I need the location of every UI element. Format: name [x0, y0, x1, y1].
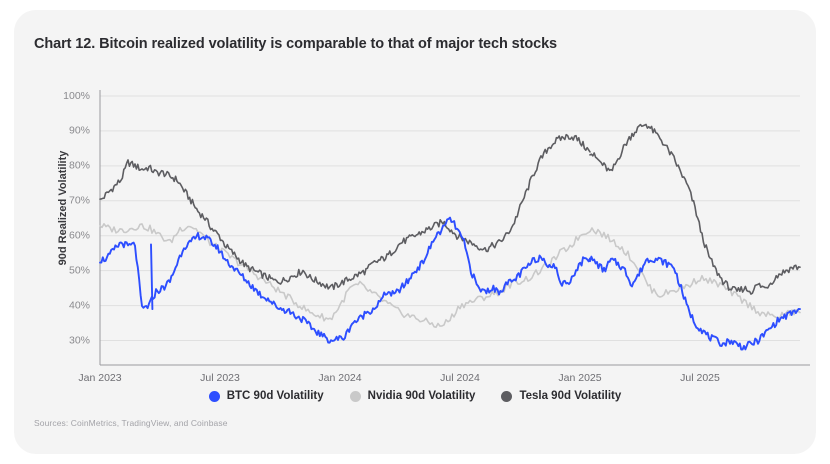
svg-text:Jul 2023: Jul 2023 [200, 372, 240, 384]
y-axis-tick-labels: 30%40%50%60%70%80%90%100% [63, 90, 90, 347]
svg-text:30%: 30% [69, 334, 90, 346]
legend-item-btc[interactable]: BTC 90d Volatility [209, 390, 324, 402]
chart-card: Chart 12. Bitcoin realized volatility is… [14, 10, 816, 454]
svg-text:80%: 80% [69, 160, 90, 172]
svg-text:Jan 2023: Jan 2023 [78, 372, 121, 384]
circle-dot-icon [209, 391, 220, 402]
chart-legend: BTC 90d Volatility Nvidia 90d Volatility… [14, 390, 816, 402]
svg-text:50%: 50% [69, 264, 90, 276]
plot-area: 90d Realized Volatility 30%40%50%60%70%8… [14, 10, 816, 454]
svg-text:60%: 60% [69, 230, 90, 242]
svg-text:40%: 40% [69, 299, 90, 311]
legend-item-tesla[interactable]: Tesla 90d Volatility [501, 390, 621, 402]
line-chart-svg: 30%40%50%60%70%80%90%100% Jan 2023Jul 20… [14, 10, 816, 410]
svg-text:Jan 2024: Jan 2024 [318, 372, 361, 384]
legend-label-btc: BTC 90d Volatility [227, 390, 324, 402]
series-line [100, 135, 590, 290]
circle-dot-icon [350, 391, 361, 402]
data-series-lines [100, 125, 800, 350]
sources-note: Sources: CoinMetrics, TradingView, and C… [34, 418, 228, 428]
svg-text:Jul 2024: Jul 2024 [440, 372, 480, 384]
svg-text:Jan 2025: Jan 2025 [558, 372, 601, 384]
x-axis-tick-labels: Jan 2023Jul 2023Jan 2024Jul 2024Jan 2025… [78, 372, 720, 384]
svg-text:Jul 2025: Jul 2025 [680, 372, 720, 384]
legend-item-nvidia[interactable]: Nvidia 90d Volatility [350, 390, 476, 402]
svg-text:100%: 100% [63, 90, 90, 102]
svg-text:90%: 90% [69, 125, 90, 137]
legend-label-nvidia: Nvidia 90d Volatility [368, 390, 476, 402]
svg-text:70%: 70% [69, 195, 90, 207]
legend-label-tesla: Tesla 90d Volatility [519, 390, 621, 402]
circle-dot-icon [501, 391, 512, 402]
